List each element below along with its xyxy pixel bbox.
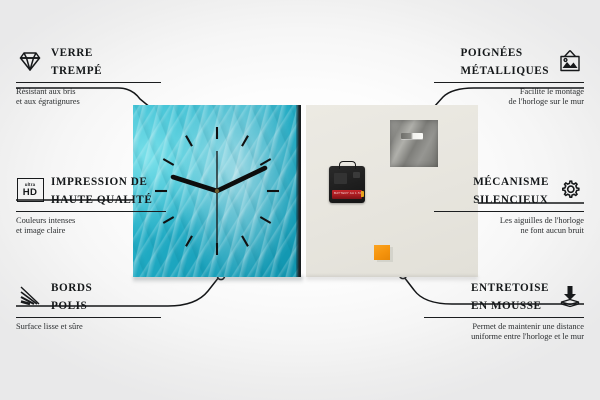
metal-hanger-plate bbox=[390, 120, 438, 167]
feature-title-line2: TREMPÉ bbox=[51, 65, 102, 77]
feature-desc-line2: de l'horloge sur le mur bbox=[434, 97, 584, 108]
infographic-canvas: BATTERY AA 1.5V VERRE TREMPÉ bbox=[0, 0, 600, 400]
gear-icon bbox=[556, 176, 584, 204]
feature-verre-trempe: VERRE TREMPÉ Résistant aux bris et aux é… bbox=[16, 43, 161, 108]
feature-desc-line1: Couleurs intenses bbox=[16, 216, 166, 227]
polished-edges-icon bbox=[16, 282, 44, 310]
diamond-icon bbox=[16, 47, 44, 75]
feature-desc-line1: Facilite le montage bbox=[434, 87, 584, 98]
feature-header: MÉCANISME SILENCIEUX bbox=[434, 172, 584, 208]
feature-title-line1: MÉCANISME bbox=[473, 176, 549, 188]
feature-title-line1: POIGNÉES bbox=[460, 47, 522, 59]
clock-mechanism: BATTERY AA 1.5V bbox=[329, 166, 365, 203]
feature-header: ENTRETOISE EN MOUSSE bbox=[424, 278, 584, 314]
feature-header: POIGNÉES MÉTALLIQUES bbox=[434, 43, 584, 79]
feature-title-line2: HAUTE QUALITÉ bbox=[51, 194, 152, 206]
feature-title: BORDS POLIS bbox=[51, 278, 92, 314]
feature-title: POIGNÉES MÉTALLIQUES bbox=[460, 43, 549, 79]
ultra-hd-icon-main-text: HD bbox=[23, 188, 37, 198]
feature-mecanisme-silencieux: MÉCANISME SILENCIEUX Les aiguilles de l'… bbox=[434, 172, 584, 237]
feature-desc-line2: ne font aucun bruit bbox=[434, 226, 584, 237]
feature-divider bbox=[16, 317, 161, 318]
feature-title-line1: IMPRESSION DE bbox=[51, 176, 147, 188]
feature-divider bbox=[424, 317, 584, 318]
feature-poignees-metalliques: POIGNÉES MÉTALLIQUES Facilite le montage… bbox=[434, 43, 584, 108]
feature-title-line1: VERRE bbox=[51, 47, 93, 59]
feature-title: VERRE TREMPÉ bbox=[51, 43, 102, 79]
feature-title-line1: ENTRETOISE bbox=[471, 282, 549, 294]
feature-desc-line1: Permet de maintenir une distance bbox=[424, 322, 584, 333]
feature-bords-polis: BORDS POLIS Surface lisse et sûre bbox=[16, 278, 161, 332]
feature-title: ENTRETOISE EN MOUSSE bbox=[471, 278, 549, 314]
hanger-slot bbox=[401, 133, 423, 139]
feature-title: MÉCANISME SILENCIEUX bbox=[473, 172, 549, 208]
mechanism-hanging-tab bbox=[339, 161, 356, 169]
battery: BATTERY AA 1.5V bbox=[332, 190, 362, 199]
clock-center-cap bbox=[215, 189, 219, 193]
clock-hour-hand bbox=[173, 177, 217, 191]
feature-entretoise-en-mousse: ENTRETOISE EN MOUSSE Permet de maintenir… bbox=[424, 278, 584, 343]
clock-minute-hand bbox=[217, 168, 265, 191]
foam-spacer bbox=[374, 245, 390, 260]
mechanism-detail-left bbox=[334, 173, 347, 184]
feature-title-line2: SILENCIEUX bbox=[473, 194, 548, 206]
feature-impression-haute-qualite: ultra HD IMPRESSION DE HAUTE QUALITÉ Cou… bbox=[16, 172, 166, 237]
feature-desc-line1: Résistant aux bris bbox=[16, 87, 161, 98]
ultra-hd-icon: ultra HD bbox=[16, 176, 44, 204]
mechanism-detail-right bbox=[353, 172, 360, 178]
product-image: BATTERY AA 1.5V bbox=[133, 105, 478, 277]
feature-title: IMPRESSION DE HAUTE QUALITÉ bbox=[51, 172, 152, 208]
feature-desc-line2: et aux égratignures bbox=[16, 97, 161, 108]
wall-mount-picture-icon bbox=[556, 47, 584, 75]
foam-spacer-arrow-icon bbox=[556, 282, 584, 310]
battery-label: BATTERY AA 1.5V bbox=[334, 191, 362, 195]
feature-divider bbox=[434, 82, 584, 83]
feature-divider bbox=[434, 211, 584, 212]
feature-desc-line2: et image claire bbox=[16, 226, 166, 237]
feature-title-line1: BORDS bbox=[51, 282, 92, 294]
feature-title-line2: EN MOUSSE bbox=[471, 300, 542, 312]
feature-header: ultra HD IMPRESSION DE HAUTE QUALITÉ bbox=[16, 172, 166, 208]
feature-divider bbox=[16, 211, 166, 212]
feature-desc-line1: Les aiguilles de l'horloge bbox=[434, 216, 584, 227]
feature-title-line2: POLIS bbox=[51, 300, 87, 312]
feature-desc-line2: uniforme entre l'horloge et le mur bbox=[424, 332, 584, 343]
feature-divider bbox=[16, 82, 161, 83]
feature-header: VERRE TREMPÉ bbox=[16, 43, 161, 79]
feature-header: BORDS POLIS bbox=[16, 278, 161, 314]
feature-title-line2: MÉTALLIQUES bbox=[460, 65, 549, 77]
feature-desc-line1: Surface lisse et sûre bbox=[16, 322, 161, 333]
